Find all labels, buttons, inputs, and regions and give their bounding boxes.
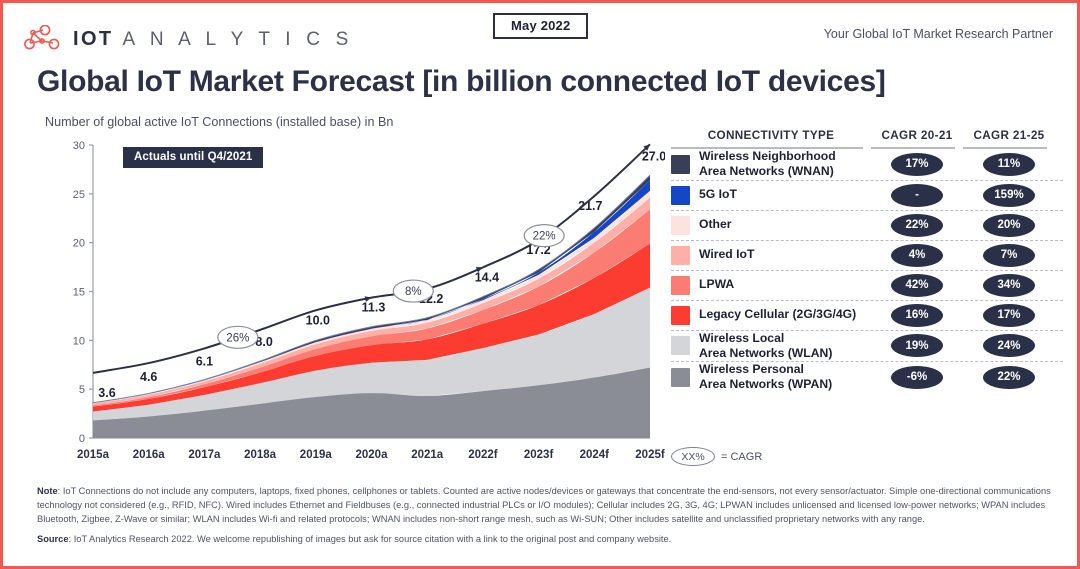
footnotes: Note: IoT Connections do not include any…	[37, 485, 1055, 547]
svg-text:20: 20	[73, 238, 85, 250]
cagr-20-21-pill-cell: 42%	[871, 274, 963, 297]
svg-text:4.6: 4.6	[140, 370, 157, 384]
rule-cagr2	[963, 147, 1047, 149]
note-line: Note: IoT Connections do not include any…	[37, 485, 1055, 527]
svg-text:6.1: 6.1	[196, 354, 213, 368]
legend-color-swatch	[671, 246, 690, 265]
note-label: Note	[37, 486, 58, 496]
col-header-type: CONNECTIVITY TYPE	[671, 129, 871, 142]
page-title: Global IoT Market Forecast [in billion c…	[37, 65, 886, 99]
svg-text:2017a: 2017a	[188, 449, 221, 461]
rule-cagr1	[871, 147, 955, 149]
svg-text:26%: 26%	[226, 332, 249, 344]
logo-analytics-text: A N A L Y T I C S	[123, 29, 354, 51]
cagr-20-21-pill: -6%	[891, 366, 943, 389]
svg-text:2019a: 2019a	[300, 449, 333, 461]
svg-text:2025f: 2025f	[635, 449, 665, 461]
table-row: Legacy Cellular (2G/3G/4G)16%17%	[671, 301, 1063, 331]
svg-text:3.6: 3.6	[98, 386, 115, 400]
cagr-20-21-pill-cell: 19%	[871, 334, 963, 357]
cagr-21-25-pill: 34%	[983, 274, 1035, 297]
cagr-21-25-pill-cell: 24%	[963, 334, 1055, 357]
table-body: Wireless NeighborhoodArea Networks (WNAN…	[671, 149, 1063, 393]
cagr-20-21-pill-cell: 4%	[871, 244, 963, 267]
cagr-21-25-pill-cell: 17%	[963, 304, 1055, 327]
svg-text:8%: 8%	[405, 286, 422, 298]
connectivity-table: CONNECTIVITY TYPE CAGR 20-21 CAGR 21-25 …	[671, 129, 1063, 393]
cagr-key-text: = CAGR	[721, 451, 762, 463]
connectivity-type-label: Wireless PersonalArea Networks (WPAN)	[699, 362, 871, 393]
svg-text:2016a: 2016a	[133, 449, 166, 461]
cagr-21-25-pill-cell: 11%	[963, 153, 1055, 176]
cagr-21-25-pill: 17%	[983, 304, 1035, 327]
cagr-legend-key: XX% = CAGR	[671, 447, 762, 466]
table-row: Wired IoT4%7%	[671, 241, 1063, 271]
svg-text:25: 25	[73, 189, 85, 201]
table-row: Other22%20%	[671, 211, 1063, 241]
svg-text:2023f: 2023f	[524, 449, 554, 461]
logo-iot-text: IOT	[73, 28, 114, 51]
connectivity-type-label: Wired IoT	[699, 247, 871, 262]
svg-text:2024f: 2024f	[580, 449, 610, 461]
table-row: Wireless LocalArea Networks (WLAN)19%24%	[671, 331, 1063, 363]
table-row: Wireless NeighborhoodArea Networks (WNAN…	[671, 149, 1063, 181]
cagr-20-21-pill: 22%	[891, 214, 943, 237]
legend-color-swatch	[671, 368, 690, 387]
col-header-cagr-20-21: CAGR 20-21	[871, 129, 963, 142]
cagr-21-25-pill-cell: 20%	[963, 214, 1055, 237]
svg-text:2021a: 2021a	[411, 449, 444, 461]
source-label: Source	[37, 534, 69, 544]
cagr-20-21-pill: 16%	[891, 304, 943, 327]
table-row: Wireless PersonalArea Networks (WPAN)-6%…	[671, 362, 1063, 393]
legend-color-swatch	[671, 276, 690, 295]
legend-color-swatch	[671, 186, 690, 205]
cagr-20-21-pill: 19%	[891, 334, 943, 357]
cagr-21-25-pill: 159%	[983, 184, 1035, 207]
connectivity-type-label: Legacy Cellular (2G/3G/4G)	[699, 307, 871, 322]
cagr-21-25-pill-cell: 22%	[963, 366, 1055, 389]
svg-text:2020a: 2020a	[356, 449, 389, 461]
source-text: : IoT Analytics Research 2022. We welcom…	[69, 534, 672, 544]
col-header-cagr-21-25: CAGR 21-25	[963, 129, 1055, 142]
tagline: Your Global IoT Market Research Partner	[824, 27, 1053, 41]
chart-subtitle: Number of global active IoT Connections …	[45, 115, 393, 129]
header: IOT A N A L Y T I C S May 2022 Your Glob…	[3, 3, 1077, 61]
table-row: LPWA42%34%	[671, 271, 1063, 301]
cagr-20-21-pill: 17%	[891, 153, 943, 176]
svg-text:2015a: 2015a	[77, 449, 110, 461]
cagr-21-25-pill: 24%	[983, 334, 1035, 357]
connectivity-type-label: Wireless NeighborhoodArea Networks (WNAN…	[699, 149, 871, 180]
legend-color-swatch	[671, 155, 690, 174]
cagr-key-oval: XX%	[671, 447, 715, 466]
cagr-21-25-pill-cell: 34%	[963, 274, 1055, 297]
cagr-20-21-pill-cell: 22%	[871, 214, 963, 237]
actuals-badge: Actuals until Q4/2021	[123, 147, 263, 168]
svg-text:10.0: 10.0	[306, 313, 330, 327]
table-header-row: CONNECTIVITY TYPE CAGR 20-21 CAGR 21-25	[671, 129, 1063, 147]
svg-text:22%: 22%	[533, 231, 556, 243]
date-badge: May 2022	[493, 13, 588, 39]
brand-logo: IOT A N A L Y T I C S	[21, 25, 354, 53]
svg-text:11.3: 11.3	[362, 301, 386, 315]
cagr-21-25-pill: 7%	[983, 244, 1035, 267]
svg-text:30: 30	[73, 140, 85, 152]
cagr-21-25-pill-cell: 159%	[963, 184, 1055, 207]
slide-root: IOT A N A L Y T I C S May 2022 Your Glob…	[0, 0, 1080, 569]
area-chart: 0510152025302015a2016a2017a2018a2019a202…	[45, 133, 665, 478]
cagr-20-21-pill-cell: -	[871, 184, 963, 207]
svg-text:14.4: 14.4	[475, 270, 499, 284]
legend-color-swatch	[671, 336, 690, 355]
connectivity-type-label: 5G IoT	[699, 187, 871, 202]
source-line: Source: IoT Analytics Research 2022. We …	[37, 533, 1055, 547]
logo-wordmark: IOT A N A L Y T I C S	[73, 28, 354, 51]
svg-text:5: 5	[79, 384, 85, 396]
legend-color-swatch	[671, 306, 690, 325]
connectivity-type-label: Wireless LocalArea Networks (WLAN)	[699, 331, 871, 362]
cagr-21-25-pill: 11%	[983, 153, 1035, 176]
cagr-20-21-pill-cell: 16%	[871, 304, 963, 327]
svg-text:0: 0	[79, 433, 85, 445]
connectivity-type-label: LPWA	[699, 277, 871, 292]
svg-text:15: 15	[73, 287, 85, 299]
note-text: : IoT Connections do not include any com…	[37, 486, 1051, 524]
network-nodes-icon	[21, 25, 63, 53]
cagr-20-21-pill-cell: 17%	[871, 153, 963, 176]
legend-color-swatch	[671, 216, 690, 235]
cagr-20-21-pill: 4%	[891, 244, 943, 267]
cagr-21-25-pill-cell: 7%	[963, 244, 1055, 267]
cagr-20-21-pill: 42%	[891, 274, 943, 297]
svg-text:27.0: 27.0	[642, 149, 665, 163]
cagr-20-21-pill-cell: -6%	[871, 366, 963, 389]
chart-container: 0510152025302015a2016a2017a2018a2019a202…	[45, 133, 665, 478]
svg-text:2022f: 2022f	[468, 449, 498, 461]
cagr-20-21-pill: -	[891, 184, 943, 207]
svg-text:10: 10	[73, 335, 85, 347]
connectivity-type-label: Other	[699, 217, 871, 232]
cagr-21-25-pill: 22%	[983, 366, 1035, 389]
cagr-21-25-pill: 20%	[983, 214, 1035, 237]
table-row: 5G IoT-159%	[671, 181, 1063, 211]
svg-text:2018a: 2018a	[244, 449, 277, 461]
